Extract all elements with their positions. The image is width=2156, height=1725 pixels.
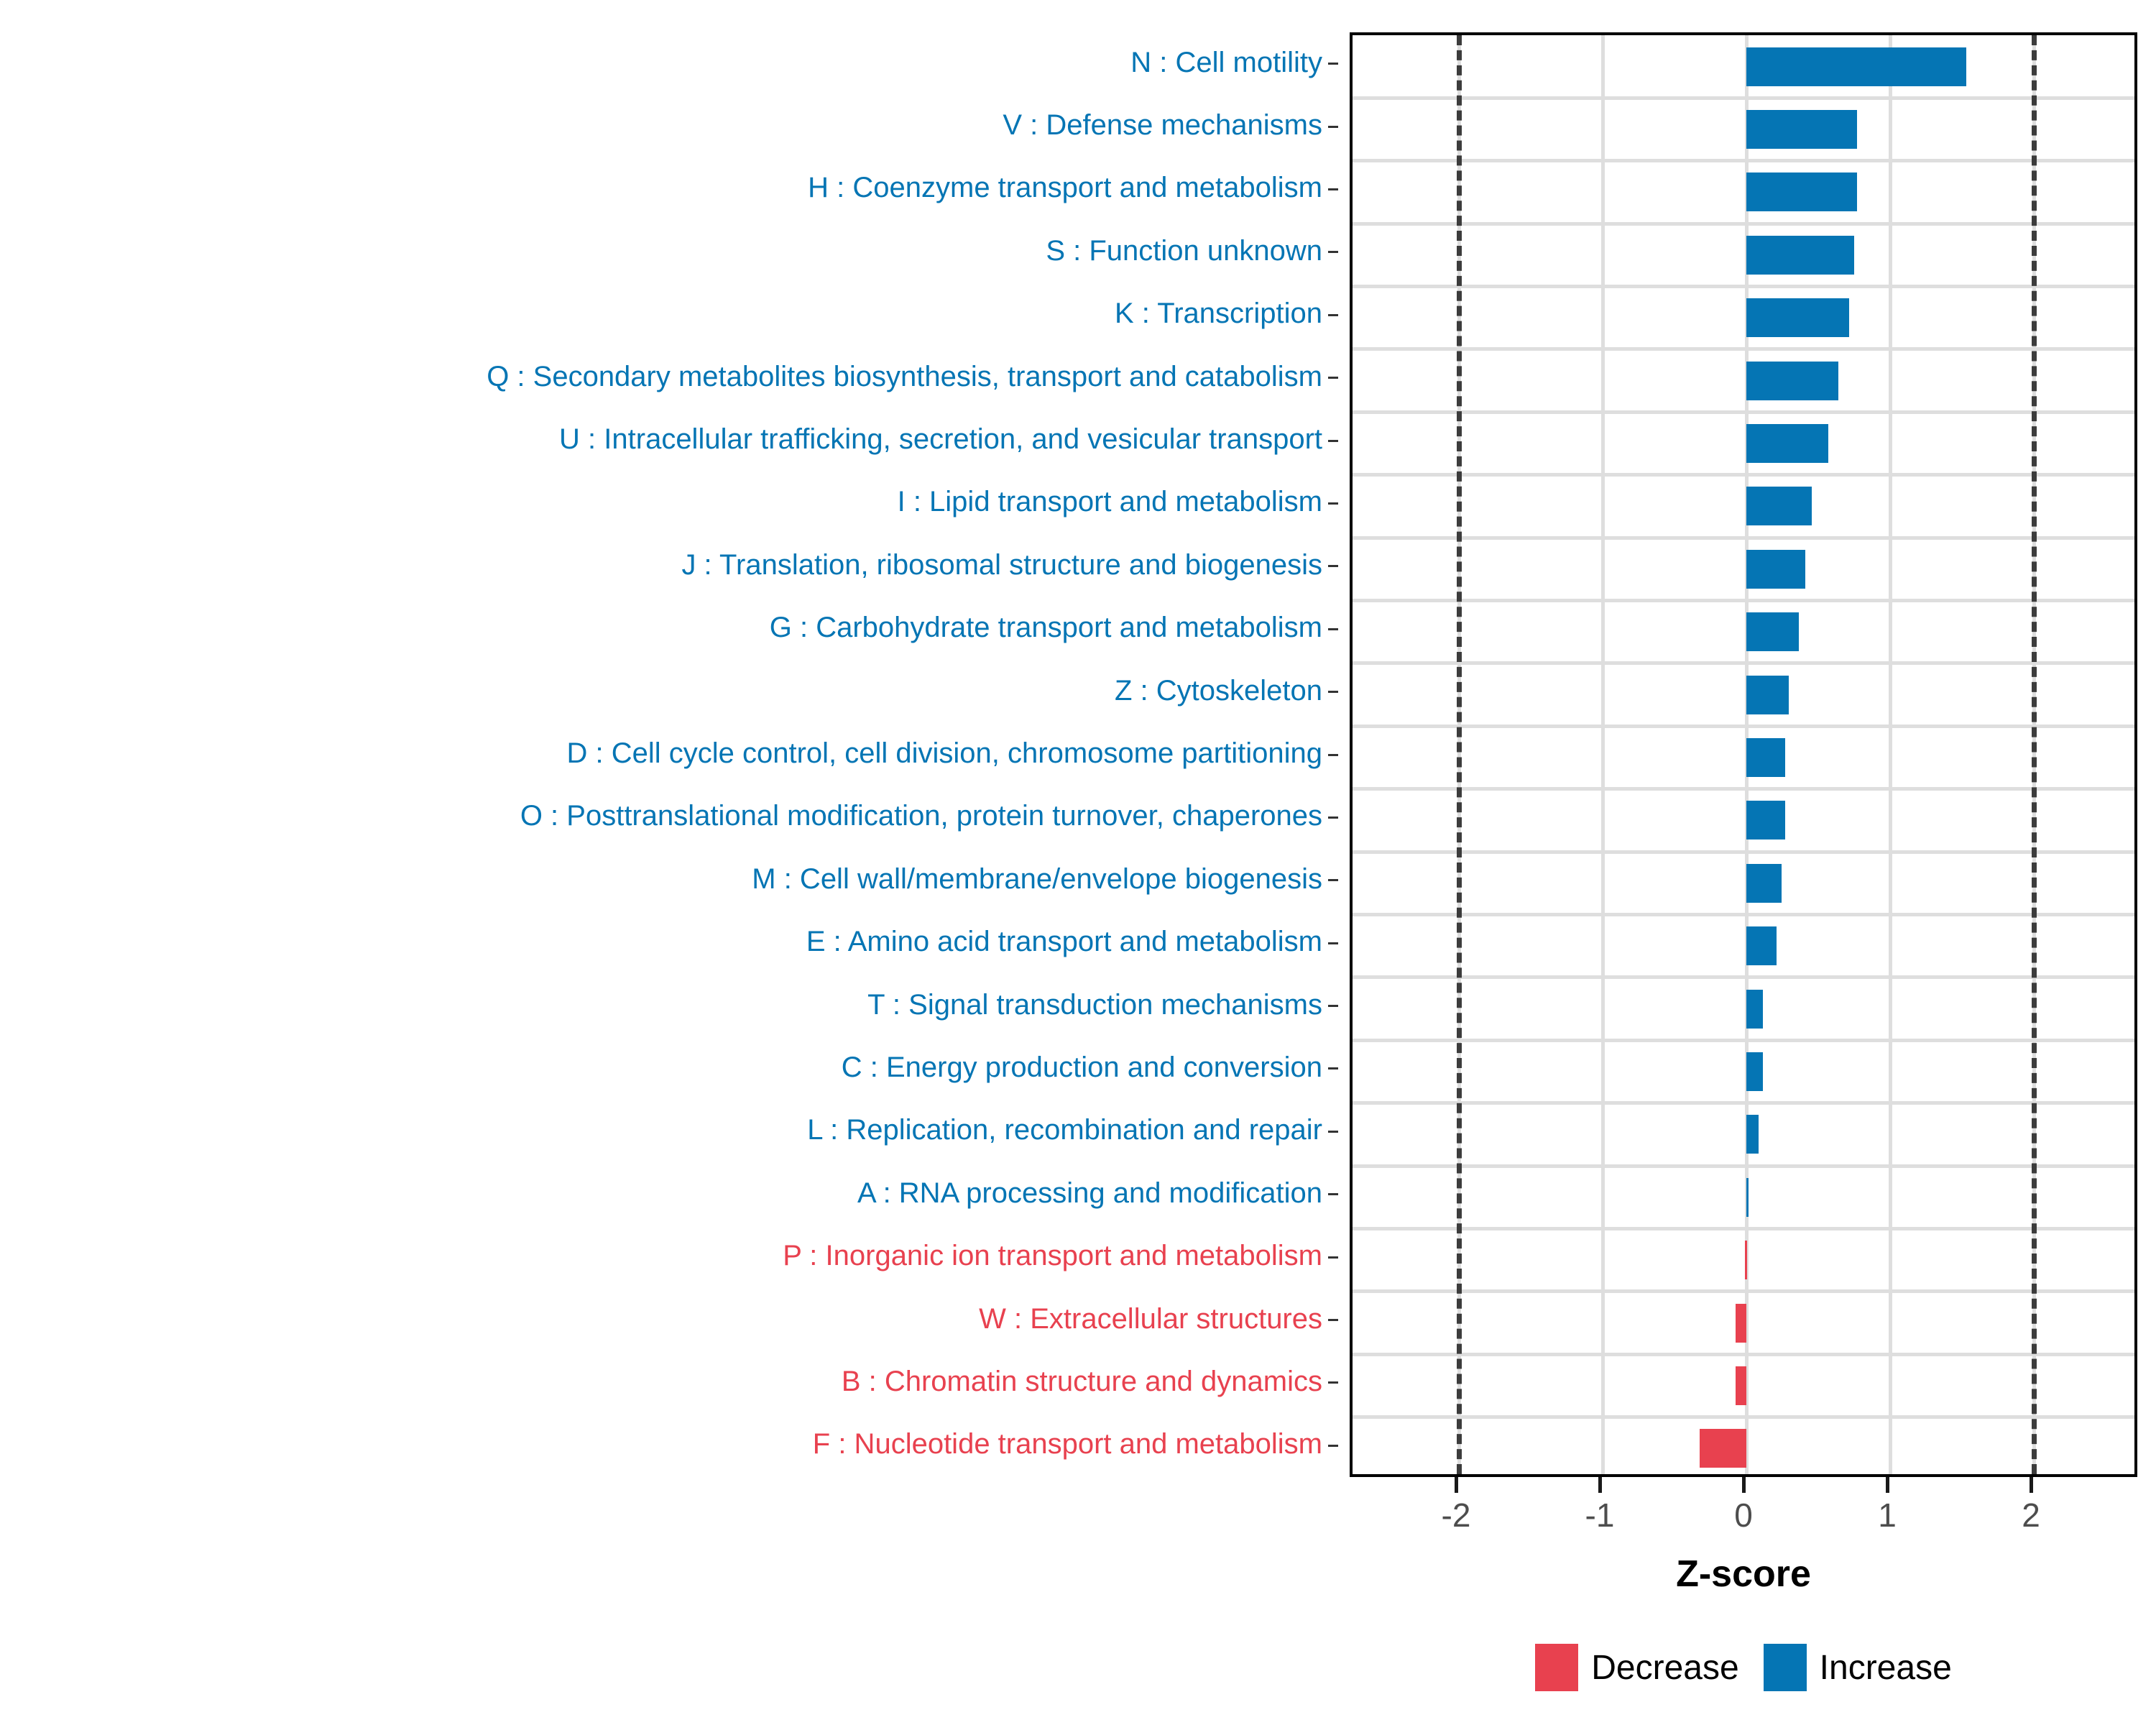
y-axis-category-labels: N : Cell motilityV : Defense mechanismsH… <box>0 32 1338 1477</box>
y-axis-label: M : Cell wall/membrane/envelope biogenes… <box>0 865 1322 893</box>
gridline-horizontal <box>1353 285 2134 288</box>
y-axis-label: V : Defense mechanisms <box>0 111 1322 139</box>
y-axis-tick <box>1328 251 1338 253</box>
bar <box>1746 612 1799 651</box>
bar <box>1700 1429 1746 1468</box>
y-axis-label: L : Replication, recombination and repai… <box>0 1115 1322 1144</box>
gridline-vertical <box>1601 35 1605 1474</box>
y-axis-tick <box>1328 188 1338 190</box>
x-axis-tick <box>1598 1477 1602 1493</box>
bar <box>1746 1115 1759 1154</box>
y-axis-label: W : Extracellular structures <box>0 1305 1322 1333</box>
y-axis-label: U : Intracellular trafficking, secretion… <box>0 425 1322 454</box>
bar <box>1736 1366 1746 1405</box>
plot-panel <box>1350 32 2137 1477</box>
y-axis-tick <box>1328 1381 1338 1384</box>
x-axis-tick-label: -2 <box>1442 1496 1471 1535</box>
gridline-horizontal <box>1353 787 2134 791</box>
bar <box>1746 1178 1749 1217</box>
x-axis-tick-label: 0 <box>1734 1496 1753 1535</box>
y-axis-label: O : Posttranslational modification, prot… <box>0 801 1322 830</box>
y-axis-tick <box>1328 502 1338 505</box>
bar <box>1746 47 1966 86</box>
bar <box>1745 1241 1747 1279</box>
plot-area <box>1353 35 2134 1474</box>
chart-legend: Decrease Increase <box>1350 1635 2137 1700</box>
y-axis-tick <box>1328 1319 1338 1321</box>
y-axis-label: Z : Cytoskeleton <box>0 676 1322 705</box>
cog-zscore-bar-chart: N : Cell motilityV : Defense mechanismsH… <box>0 0 2156 1725</box>
x-axis-title: Z-score <box>1350 1552 2137 1596</box>
gridline-horizontal <box>1353 96 2134 100</box>
y-axis-tick <box>1328 1005 1338 1007</box>
y-axis-label: N : Cell motility <box>0 48 1322 77</box>
bar <box>1746 298 1849 337</box>
y-axis-tick <box>1328 816 1338 819</box>
x-axis-tick-label: -1 <box>1585 1496 1615 1535</box>
gridline-horizontal <box>1353 222 2134 226</box>
y-axis-tick <box>1328 628 1338 630</box>
gridline-vertical <box>1889 35 1892 1474</box>
y-axis-label: A : RNA processing and modification <box>0 1179 1322 1207</box>
bar <box>1746 676 1789 714</box>
bar <box>1746 236 1854 275</box>
y-axis-tick <box>1328 126 1338 128</box>
x-axis-tick <box>1886 1477 1889 1493</box>
gridline-horizontal <box>1353 1353 2134 1356</box>
gridline-horizontal <box>1353 661 2134 665</box>
gridline-horizontal <box>1353 913 2134 916</box>
gridline-horizontal <box>1353 1227 2134 1230</box>
y-axis-tick <box>1328 1256 1338 1259</box>
gridline-horizontal <box>1353 975 2134 979</box>
y-axis-label: H : Coenzyme transport and metabolism <box>0 173 1322 202</box>
y-axis-label: K : Transcription <box>0 299 1322 328</box>
y-axis-label: T : Signal transduction mechanisms <box>0 990 1322 1019</box>
y-axis-tick <box>1328 942 1338 944</box>
x-axis-tick <box>1455 1477 1458 1493</box>
y-axis-label: B : Chromatin structure and dynamics <box>0 1367 1322 1396</box>
reference-line <box>1457 35 1462 1474</box>
y-axis-tick <box>1328 879 1338 881</box>
bar <box>1746 864 1782 903</box>
y-axis-tick <box>1328 1067 1338 1069</box>
bar <box>1746 424 1828 463</box>
gridline-horizontal <box>1353 347 2134 351</box>
gridline-horizontal <box>1353 159 2134 162</box>
bar <box>1746 801 1785 839</box>
bar <box>1746 550 1805 589</box>
bar <box>1746 738 1785 777</box>
legend-swatch-increase <box>1764 1644 1807 1691</box>
gridline-horizontal <box>1353 1101 2134 1105</box>
y-axis-tick <box>1328 1445 1338 1447</box>
y-axis-tick <box>1328 1193 1338 1195</box>
gridline-horizontal <box>1353 1039 2134 1042</box>
x-axis-tick-label: 1 <box>1878 1496 1897 1535</box>
y-axis-label: J : Translation, ribosomal structure and… <box>0 551 1322 579</box>
bar <box>1746 172 1857 211</box>
gridline-horizontal <box>1353 1289 2134 1293</box>
y-axis-tick <box>1328 314 1338 316</box>
bar <box>1746 362 1838 400</box>
reference-line <box>2032 35 2037 1474</box>
legend-item-increase: Increase <box>1764 1644 1952 1691</box>
y-axis-label: D : Cell cycle control, cell division, c… <box>0 739 1322 768</box>
gridline-horizontal <box>1353 410 2134 414</box>
x-axis-tick <box>2030 1477 2033 1493</box>
y-axis-label: P : Inorganic ion transport and metaboli… <box>0 1241 1322 1270</box>
gridline-horizontal <box>1353 536 2134 540</box>
y-axis-tick <box>1328 754 1338 756</box>
x-axis-tick <box>1742 1477 1746 1493</box>
y-axis-label: S : Function unknown <box>0 236 1322 265</box>
x-axis-tick-label: 2 <box>2022 1496 2040 1535</box>
y-axis-label: E : Amino acid transport and metabolism <box>0 927 1322 956</box>
bar <box>1746 110 1857 149</box>
y-axis-tick <box>1328 377 1338 379</box>
legend-item-decrease: Decrease <box>1535 1644 1738 1691</box>
y-axis-label: F : Nucleotide transport and metabolism <box>0 1430 1322 1458</box>
y-axis-tick <box>1328 691 1338 693</box>
gridline-horizontal <box>1353 1164 2134 1168</box>
bar <box>1746 926 1777 965</box>
gridline-horizontal <box>1353 473 2134 477</box>
legend-swatch-decrease <box>1535 1644 1578 1691</box>
y-axis-label: I : Lipid transport and metabolism <box>0 487 1322 516</box>
y-axis-label: C : Energy production and conversion <box>0 1053 1322 1082</box>
y-axis-tick <box>1328 565 1338 567</box>
y-axis-tick <box>1328 1131 1338 1133</box>
legend-label-increase: Increase <box>1820 1648 1952 1688</box>
y-axis-tick <box>1328 63 1338 65</box>
y-axis-label: Q : Secondary metabolites biosynthesis, … <box>0 362 1322 391</box>
y-axis-label: G : Carbohydrate transport and metabolis… <box>0 613 1322 642</box>
legend-label-decrease: Decrease <box>1591 1648 1738 1688</box>
y-axis-tick <box>1328 440 1338 442</box>
gridline-horizontal <box>1353 1415 2134 1419</box>
bar <box>1746 487 1812 525</box>
bar <box>1736 1304 1746 1343</box>
bar <box>1746 990 1763 1029</box>
bar <box>1746 1052 1763 1091</box>
gridline-horizontal <box>1353 850 2134 854</box>
x-axis: -2-1012 <box>1350 1477 2137 1563</box>
gridline-horizontal <box>1353 724 2134 728</box>
gridline-horizontal <box>1353 599 2134 602</box>
